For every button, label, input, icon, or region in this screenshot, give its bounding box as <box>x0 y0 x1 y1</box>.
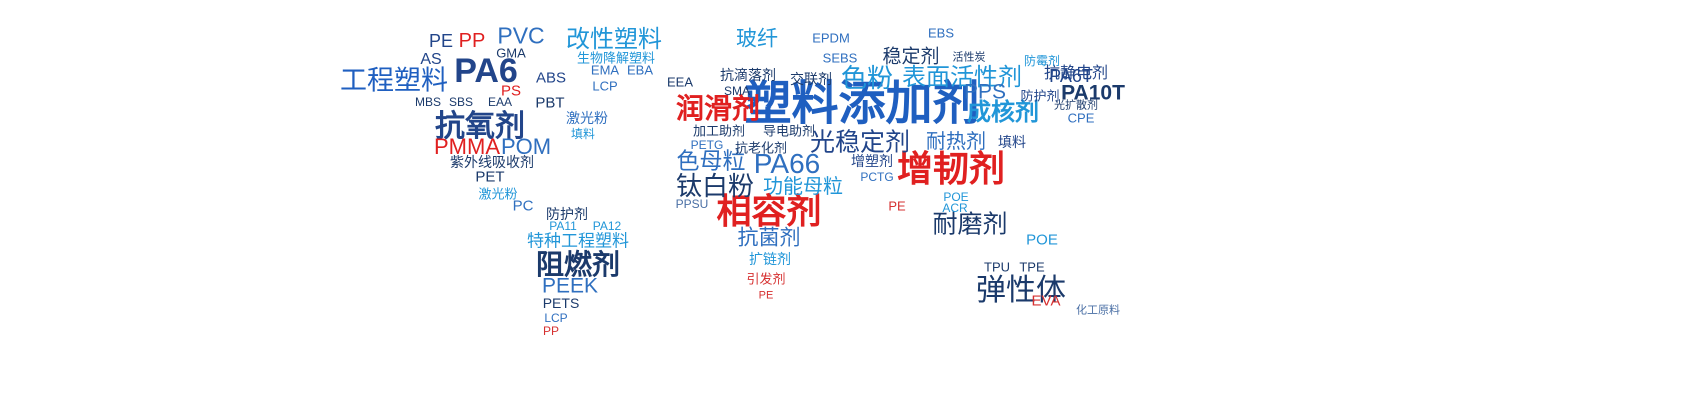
cloud-word[interactable]: MBS <box>415 96 441 108</box>
cloud-word[interactable]: EBS <box>928 27 954 40</box>
cloud-word[interactable]: PE <box>888 200 905 213</box>
cloud-word[interactable]: 玻纤 <box>736 29 778 50</box>
cloud-word[interactable]: 特种工程塑料 <box>527 233 629 250</box>
cloud-word[interactable]: 光扩散剂 <box>1054 101 1098 112</box>
cloud-word[interactable]: PPS <box>964 82 1006 103</box>
cloud-word[interactable]: EEA <box>667 76 693 89</box>
cloud-word[interactable]: EAA <box>488 96 512 108</box>
cloud-word[interactable]: 生物降解塑料 <box>577 52 655 65</box>
cloud-word[interactable]: 光稳定剂 <box>810 131 910 156</box>
cloud-word[interactable]: PBT <box>535 96 564 111</box>
cloud-word[interactable]: PE <box>429 32 453 50</box>
cloud-word[interactable]: AS <box>420 52 441 68</box>
cloud-word[interactable]: 导电助剂 <box>763 125 815 138</box>
cloud-word[interactable]: ABS <box>536 71 566 86</box>
cloud-word[interactable]: 钛白粉 <box>676 173 754 199</box>
cloud-word[interactable]: PP <box>543 325 559 337</box>
cloud-word[interactable]: PA6T <box>1049 67 1093 85</box>
cloud-word[interactable]: 引发剂 <box>746 273 785 286</box>
cloud-word[interactable]: 功能母粒 <box>763 177 843 197</box>
cloud-word[interactable]: 成核剂 <box>967 101 1039 125</box>
cloud-word[interactable]: SEBS <box>823 52 858 65</box>
cloud-word[interactable]: GMA <box>496 47 526 60</box>
word-cloud-canvas: 塑料添加剂增韧剂相容剂润滑剂阻燃剂工程塑料抗氧剂PA6改性塑料表面活性剂弹性体光… <box>0 0 1707 400</box>
cloud-word[interactable]: 活性炭 <box>953 53 986 64</box>
cloud-word[interactable]: PA12 <box>593 220 621 232</box>
cloud-word[interactable]: 加工助剂 <box>693 125 745 138</box>
cloud-word[interactable]: 紫外线吸收剂 <box>450 155 534 169</box>
cloud-word[interactable]: CPE <box>1068 112 1095 125</box>
cloud-word[interactable]: 耐热剂 <box>926 132 986 152</box>
cloud-word[interactable]: SMA <box>724 85 750 97</box>
cloud-word[interactable]: 激光粉 <box>478 188 517 201</box>
cloud-word[interactable]: 激光粉 <box>566 111 608 125</box>
cloud-word[interactable]: PETS <box>543 296 580 310</box>
cloud-word[interactable]: 扩链剂 <box>749 252 791 266</box>
cloud-word[interactable]: 增塑剂 <box>851 154 893 168</box>
cloud-word[interactable]: PE <box>759 291 774 302</box>
cloud-word[interactable]: TPE <box>1019 261 1044 274</box>
cloud-word[interactable]: PPSU <box>676 198 709 210</box>
cloud-word[interactable]: PEEK <box>542 276 598 297</box>
cloud-word[interactable]: 稳定剂 <box>882 48 939 67</box>
cloud-word[interactable]: 抗滴落剂 <box>720 68 776 82</box>
cloud-word[interactable]: POE <box>1026 233 1058 248</box>
cloud-word[interactable]: LCP <box>592 80 617 93</box>
cloud-word[interactable]: 改性塑料 <box>566 28 662 52</box>
cloud-word[interactable]: PET <box>475 170 504 185</box>
cloud-word[interactable]: ACR <box>942 202 967 214</box>
cloud-word[interactable]: 润滑剂 <box>676 95 760 123</box>
cloud-word[interactable]: 抗老化剂 <box>735 142 787 155</box>
cloud-word[interactable]: 耐磨剂 <box>932 213 1007 238</box>
cloud-word[interactable]: 化工原料 <box>1076 306 1120 317</box>
cloud-word[interactable]: LCP <box>544 312 567 324</box>
cloud-word[interactable]: 防霉剂 <box>1024 55 1060 67</box>
cloud-word[interactable]: 填料 <box>571 128 595 140</box>
cloud-word[interactable]: TPU <box>984 261 1010 274</box>
cloud-word[interactable]: 交联剂 <box>790 72 832 86</box>
cloud-word[interactable]: PCTG <box>860 171 893 183</box>
cloud-word[interactable]: EPDM <box>812 32 850 45</box>
cloud-word[interactable]: PP <box>459 31 486 51</box>
cloud-word[interactable]: 抗菌剂 <box>738 228 801 249</box>
cloud-word[interactable]: EVA <box>1032 294 1061 309</box>
cloud-word[interactable]: 防护剂 <box>546 207 588 221</box>
cloud-word[interactable]: SBS <box>449 96 473 108</box>
cloud-word[interactable]: 填料 <box>998 135 1026 149</box>
cloud-word[interactable]: 色粉 <box>841 65 893 91</box>
cloud-word[interactable]: 工程塑料 <box>340 68 448 95</box>
cloud-word[interactable]: PETG <box>691 139 724 151</box>
cloud-word[interactable]: 增韧剂 <box>897 151 1005 187</box>
cloud-word[interactable]: PVC <box>497 25 544 48</box>
